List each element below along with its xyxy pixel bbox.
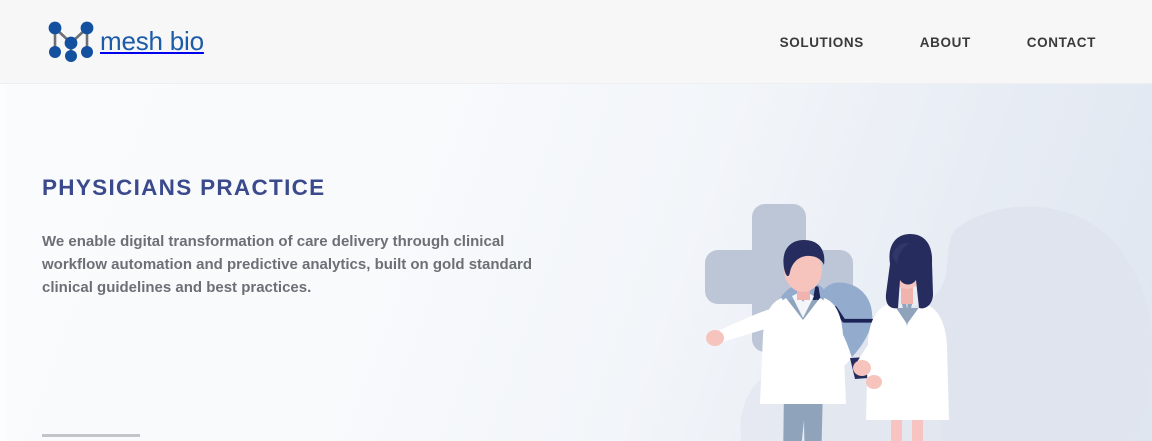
page-title: PHYSICIANS PRACTICE [42,174,602,201]
hero-section: PHYSICIANS PRACTICE We enable digital tr… [0,84,1152,441]
site-header: mesh bio SOLUTIONS ABOUT CONTACT [0,0,1152,84]
brand-logo[interactable]: mesh bio [44,12,204,70]
hero-copy: PHYSICIANS PRACTICE We enable digital tr… [42,174,602,299]
page-root: mesh bio SOLUTIONS ABOUT CONTACT [0,0,1152,441]
brand-name: mesh bio [100,28,204,54]
main-navigation: SOLUTIONS ABOUT CONTACT [780,0,1096,84]
hero-description: We enable digital transformation of care… [42,231,562,299]
nav-item-about[interactable]: ABOUT [920,35,971,50]
hero-divider [42,434,140,437]
doctors-medical-cross-illustration-svg [702,168,1152,441]
nav-item-solutions[interactable]: SOLUTIONS [780,35,864,50]
nav-item-contact[interactable]: CONTACT [1027,35,1096,50]
mesh-network-m-logo-icon [44,18,98,64]
header-inner: mesh bio SOLUTIONS ABOUT CONTACT [0,0,1152,83]
hero-illustration [702,168,1152,441]
left-edge-strip [0,84,6,441]
